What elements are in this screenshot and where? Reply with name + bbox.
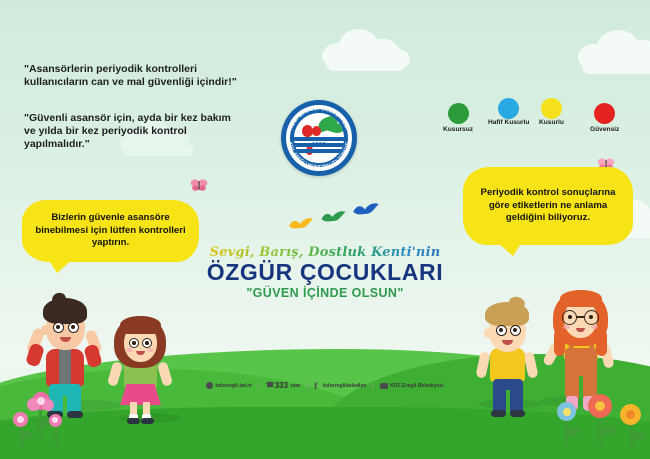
footer-separator-3: | bbox=[372, 383, 374, 389]
girl-left-skirt bbox=[120, 384, 161, 405]
girl-left-pupil-r bbox=[132, 341, 136, 345]
logo-wave-3 bbox=[294, 149, 344, 153]
flower-pink-left-2 bbox=[10, 412, 36, 450]
girl-left-shoe-r bbox=[127, 418, 140, 424]
legend-dot-blue bbox=[498, 98, 519, 119]
title-sub-line: "GÜVEN İÇİNDE OLSUN" bbox=[195, 286, 455, 300]
flower-center bbox=[626, 410, 635, 419]
legend-dot-yellow bbox=[541, 98, 562, 119]
boy-left-ear bbox=[41, 325, 49, 335]
girl-left-pupil-l bbox=[145, 341, 149, 345]
girl-left-hair-front bbox=[120, 316, 161, 334]
footer-separator-2: | bbox=[306, 383, 308, 389]
girl-right-cheek-r bbox=[563, 325, 570, 329]
speech-bubble-right-text: Periyodik kontrol sonuçlarına göre etike… bbox=[473, 187, 623, 224]
girl-left-shoe-l bbox=[141, 418, 154, 424]
footer-separator-1: | bbox=[258, 383, 260, 389]
quote-text-1: "Asansörlerin periyodik kontrolleri kull… bbox=[24, 63, 239, 89]
girl-right-braid-l bbox=[596, 330, 607, 356]
boy-right-ear bbox=[484, 328, 492, 338]
boy-left-shoe-l bbox=[67, 411, 83, 418]
flower-red-right bbox=[584, 394, 618, 448]
legend-label-guvensiz: Güvensiz bbox=[590, 126, 619, 133]
flower-leaf bbox=[567, 428, 580, 436]
phone-icon: ☎ bbox=[266, 382, 273, 390]
child-girl-left bbox=[108, 308, 174, 426]
facebook-icon: f bbox=[314, 382, 321, 390]
legend-item-hafif-kusurlu: Hafif Kusurlu bbox=[488, 98, 529, 128]
legend-label-kusurlu: Kusurlu bbox=[539, 119, 564, 126]
girl-right-pupil-r bbox=[568, 315, 572, 319]
legend-label-kusursuz: Kusursuz bbox=[443, 126, 473, 133]
footer-phone-suffix: 1880 bbox=[290, 383, 300, 388]
logo-year: 1880 bbox=[294, 142, 344, 148]
girl-right-cheek-l bbox=[591, 325, 598, 329]
logo-wave-1 bbox=[294, 137, 344, 141]
flower-center bbox=[37, 397, 45, 405]
bird-icon-green bbox=[320, 208, 347, 224]
quote-text-2: "Güvenli asansör için, ayda bir kez bakı… bbox=[24, 112, 239, 151]
footer-facebook[interactable]: f kdzereglibelediye bbox=[314, 382, 366, 390]
boy-right-arm-r bbox=[475, 351, 490, 379]
girl-right-hair-front bbox=[560, 290, 602, 307]
cloud-top-center bbox=[322, 25, 412, 67]
butterfly-icon-left bbox=[190, 178, 208, 192]
flower-leaf bbox=[21, 432, 33, 439]
child-boy-right bbox=[476, 294, 544, 422]
title-main-line: ÖZGÜR ÇOCUKLARI bbox=[195, 260, 455, 285]
municipality-logo: KDZ. EREĞLİ BELEDİYESİ KDZ. EREĞLİ MUNIC… bbox=[281, 100, 357, 176]
poster-canvas: "Asansörlerin periyodik kontrolleri kull… bbox=[0, 0, 650, 459]
boy-right-shoe-r bbox=[491, 410, 506, 417]
poster-title-block: Sevgi, Barış, Dostluk Kenti'nin ÖZGÜR ÇO… bbox=[195, 246, 455, 300]
flower-center bbox=[563, 408, 571, 416]
flower-pink-left-3 bbox=[47, 414, 69, 448]
boy-right-leg-gap bbox=[506, 390, 510, 414]
boy-right-pupil-r bbox=[499, 328, 503, 332]
footer-facebook-label: kdzereglibelediye bbox=[323, 383, 366, 389]
bird-icon-blue bbox=[352, 200, 380, 217]
globe-icon bbox=[206, 382, 213, 389]
flower-center bbox=[17, 416, 24, 423]
speech-bubble-left: Bizlerin güvenle asansöre binebilmesi iç… bbox=[22, 200, 199, 262]
boy-right-pupil-l bbox=[513, 328, 517, 332]
boy-right-arm-l bbox=[523, 351, 538, 379]
speech-bubble-left-text: Bizlerin güvenle asansöre binebilmesi iç… bbox=[32, 212, 189, 249]
speech-bubble-left-tail bbox=[48, 259, 73, 273]
boy-right-shoe-l bbox=[510, 410, 525, 417]
legend-dot-green bbox=[448, 103, 469, 124]
speech-bubble-right-tail bbox=[497, 242, 522, 256]
footer-phone[interactable]: ☎ 333 1880 bbox=[266, 381, 301, 390]
title-script-line: Sevgi, Barış, Dostluk Kenti'nin bbox=[195, 246, 455, 259]
girl-right-leg-gap bbox=[579, 376, 583, 400]
flower-orange-right bbox=[617, 404, 647, 452]
boy-left-shirt bbox=[59, 349, 71, 386]
cloud-top-right bbox=[578, 28, 650, 72]
boy-left-pupil-l bbox=[71, 325, 75, 329]
flower-blue-right bbox=[553, 402, 581, 448]
logo-emblem: 1880 bbox=[294, 113, 344, 163]
legend-item-kusursuz: Kusursuz bbox=[443, 103, 473, 133]
girl-left-arm-l bbox=[157, 361, 173, 387]
legend-item-kusurlu: Kusurlu bbox=[539, 98, 564, 128]
boy-left-pupil-r bbox=[56, 325, 60, 329]
legend-dot-red bbox=[594, 103, 615, 124]
flower-stem bbox=[55, 424, 58, 446]
girl-right-pupil-l bbox=[589, 315, 593, 319]
legend-label-hafif-kusurlu: Hafif Kusurlu bbox=[488, 119, 529, 126]
girl-right-braid-r bbox=[554, 330, 565, 356]
speech-bubble-right: Periyodik kontrol sonuçlarına göre etike… bbox=[463, 167, 633, 245]
girl-left-cheek-l bbox=[147, 348, 154, 352]
footer-website-label: kdzeregli.bel.tr bbox=[215, 383, 252, 389]
flower-leaf bbox=[601, 426, 615, 435]
girl-left-cheek-r bbox=[126, 348, 133, 352]
bird-icon-yellow bbox=[288, 215, 314, 231]
girl-left-arm-r bbox=[107, 361, 123, 387]
legend-item-guvensiz: Güvensiz bbox=[590, 103, 619, 133]
label-legend: Kusursuz Hafif Kusurlu Kusurlu Güvensiz bbox=[443, 98, 643, 146]
boy-right-shirt bbox=[490, 348, 525, 382]
footer-youtube-label: KDZ.Eregli Belediyesi bbox=[390, 383, 444, 389]
footer-youtube[interactable]: KDZ.Eregli Belediyesi bbox=[380, 383, 444, 389]
logo-berry-icon-2 bbox=[312, 126, 321, 136]
flower-center bbox=[595, 401, 605, 411]
youtube-icon bbox=[380, 383, 388, 389]
flower-leaf bbox=[632, 432, 645, 440]
flower-center bbox=[52, 417, 58, 423]
footer-website[interactable]: kdzeregli.bel.tr bbox=[206, 382, 252, 389]
footer-phone-number: 333 bbox=[275, 381, 288, 390]
